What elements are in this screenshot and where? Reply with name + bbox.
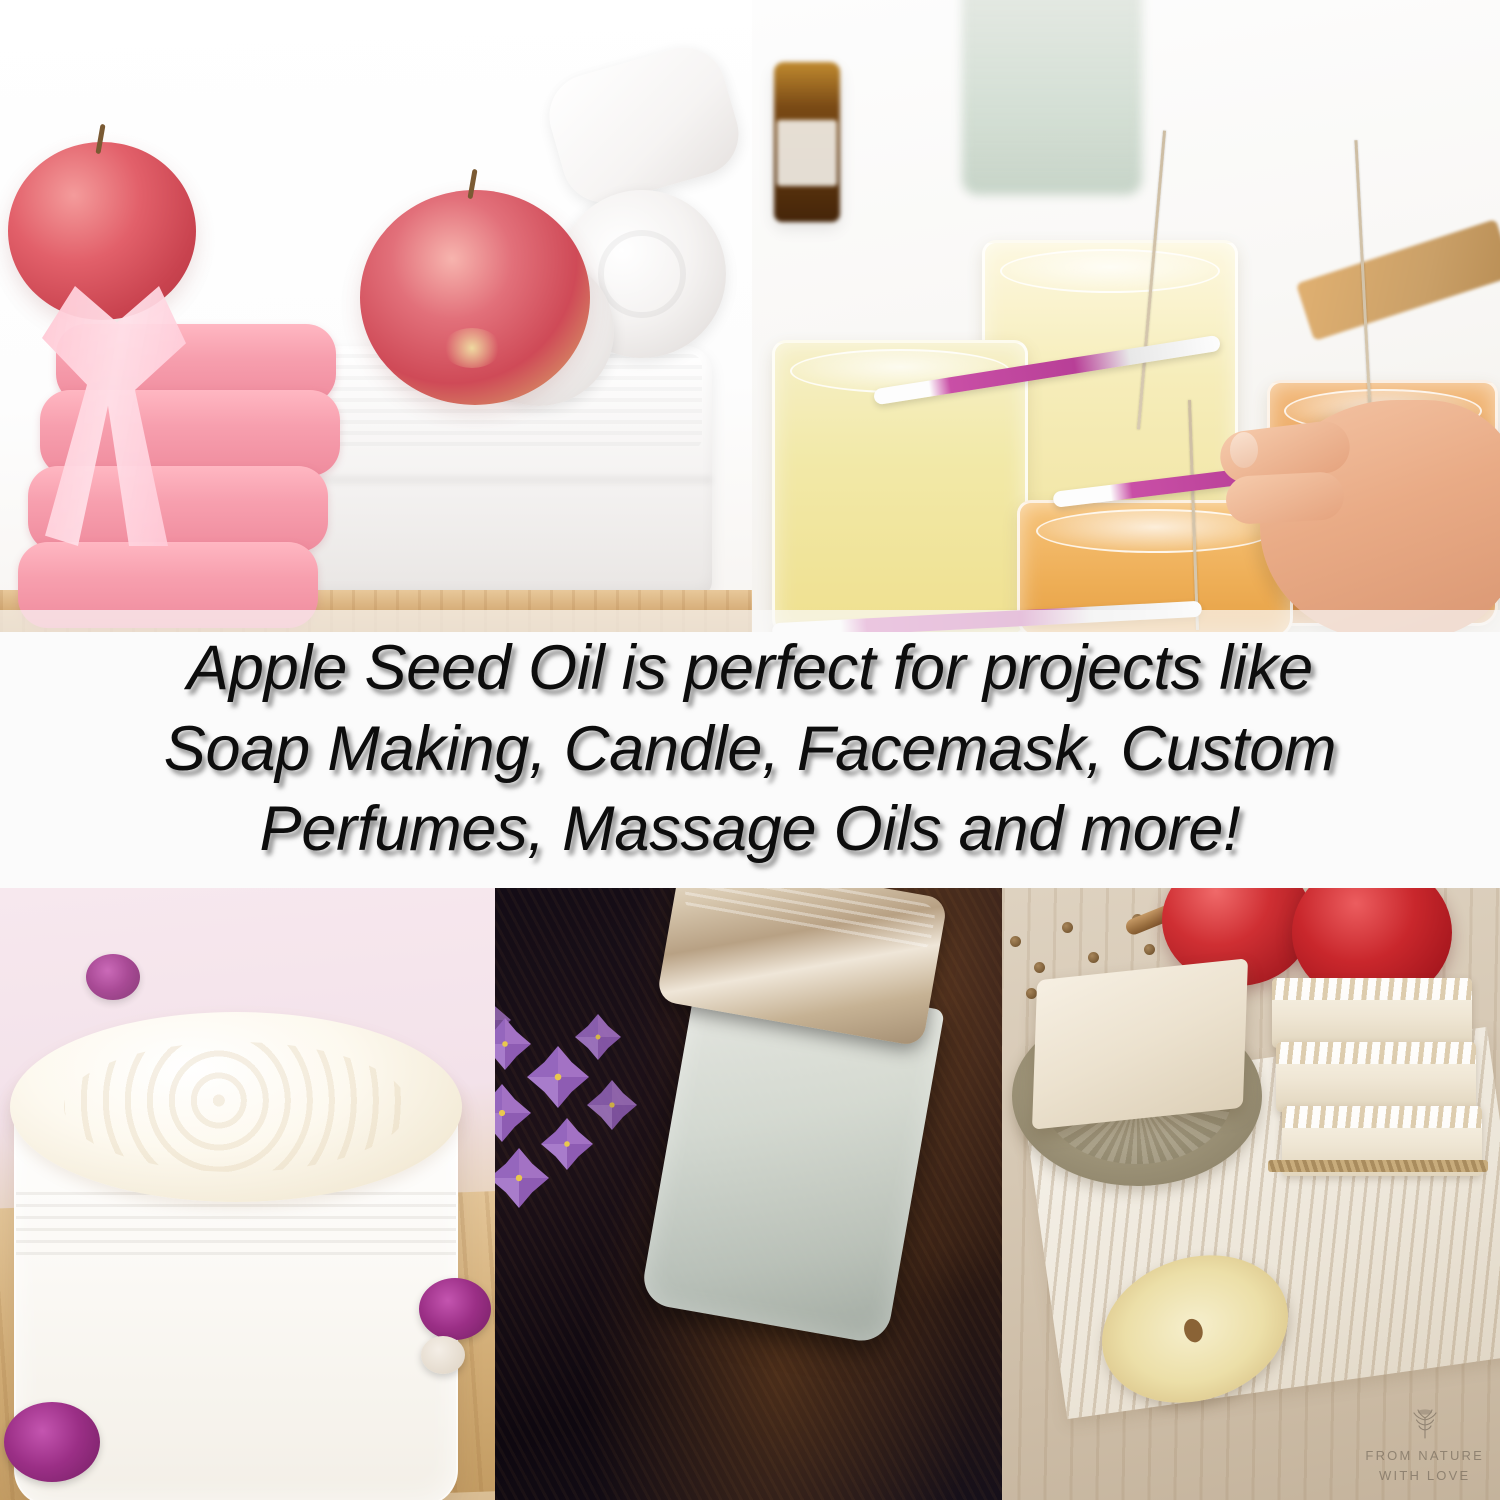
promo-headline: Apple Seed Oil is perfect for projects l… (10, 628, 1490, 870)
background-bottle (962, 0, 1142, 195)
dried-flower (421, 1336, 465, 1374)
hand (1260, 400, 1500, 632)
clove (1034, 962, 1045, 973)
jar-rim (1000, 249, 1220, 293)
panel-whipped-body-butter (0, 888, 495, 1500)
fingernail (1230, 432, 1258, 468)
soap-bar (1272, 978, 1472, 1048)
whipped-butter-swirl (10, 1012, 462, 1202)
finger (1225, 471, 1345, 525)
collage-top-row: #b83f97 (0, 0, 1500, 632)
lilac-cluster (495, 1008, 679, 1238)
collage-bottom-row: FROM NATURE WITH LOVE (0, 888, 1500, 1500)
apple (360, 190, 590, 405)
lilac-blossom (541, 1118, 593, 1170)
dried-flower (86, 954, 140, 1000)
essential-oil-bottle (774, 62, 840, 222)
promo-text-band: Apple Seed Oil is perfect for projects l… (0, 610, 1500, 888)
watermark-line-2: WITH LOVE (1379, 1468, 1470, 1483)
clove (1088, 952, 1099, 963)
lilac-blossom (495, 1018, 531, 1070)
soap-bar (1276, 1042, 1476, 1112)
clove (1144, 944, 1155, 955)
twine-wrap (1268, 1160, 1488, 1172)
lilac-blossom (495, 1148, 549, 1208)
headline-line-2: Soap Making, Candle, Facemask, Custom (10, 709, 1490, 790)
lilac-blossom (495, 1084, 531, 1142)
panel-candle-making: #b83f97 (752, 0, 1500, 632)
headline-line-1: Apple Seed Oil is perfect for projects l… (10, 628, 1490, 709)
panel-perfume-candle-lilac (495, 888, 1002, 1500)
panel-handmade-apple-soap: FROM NATURE WITH LOVE (1002, 888, 1500, 1500)
soap-bar-stack (1272, 978, 1482, 1198)
product-collage: #b83f97 (0, 0, 1500, 1500)
brand-watermark: FROM NATURE WITH LOVE (1365, 1406, 1484, 1486)
clove (1010, 936, 1021, 947)
dried-flower (4, 1402, 100, 1482)
lilac-blossom (587, 1080, 637, 1130)
soap-bar (1032, 958, 1248, 1130)
panel-soap-apple-towels (0, 0, 752, 632)
bottle-label (777, 120, 837, 186)
headline-line-3: Perfumes, Massage Oils and more! (10, 789, 1490, 870)
towel-roll (540, 38, 749, 213)
sprout-icon (1408, 1406, 1442, 1440)
lilac-blossom (527, 1046, 589, 1108)
dried-flower (419, 1278, 491, 1340)
clove (1026, 988, 1037, 999)
clove (1062, 922, 1073, 933)
wooden-board (1296, 219, 1500, 341)
lilac-blossom (575, 1014, 621, 1060)
watermark-line-1: FROM NATURE (1365, 1448, 1484, 1463)
